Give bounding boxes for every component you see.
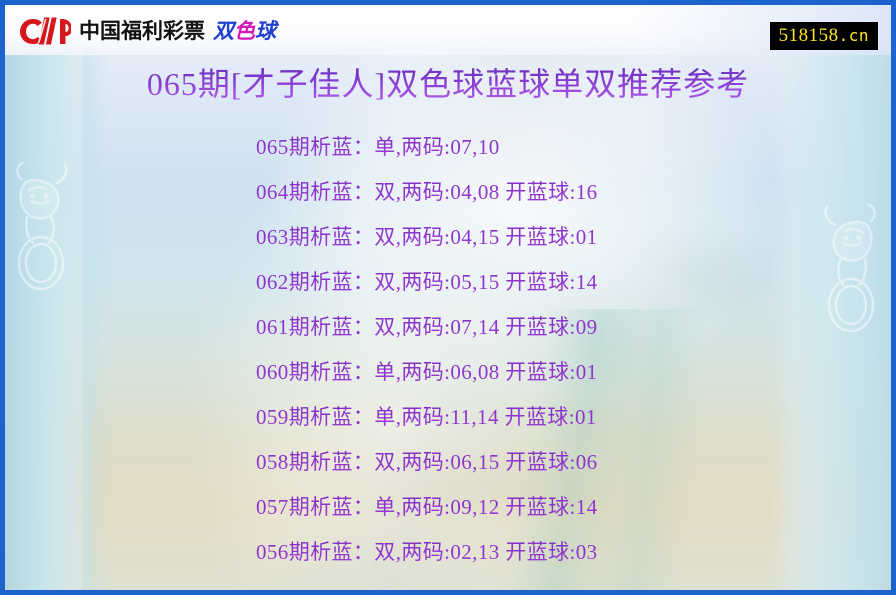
list-item: 059期析蓝：单,两码:11,14 开蓝球:01 [5, 395, 891, 440]
list-item: 058期析蓝：双,两码:06,15 开蓝球:06 [5, 440, 891, 485]
page-title: 065期[才子佳人]双色球蓝球单双推荐参考 [5, 63, 891, 105]
brand-product-char-3: 球 [255, 19, 276, 43]
list-item: 060期析蓝：单,两码:06,08 开蓝球:01 [5, 350, 891, 395]
watermark-tld: .cn [839, 26, 869, 45]
list-item: 065期析蓝：单,两码:07,10 [5, 125, 891, 170]
list-item: 064期析蓝：双,两码:04,08 开蓝球:16 [5, 170, 891, 215]
list-item: 062期析蓝：双,两码:05,15 开蓝球:14 [5, 260, 891, 305]
list-item: 056期析蓝：双,两码:02,13 开蓝球:03 [5, 530, 891, 575]
brand-product-char-1: 双 [213, 19, 234, 43]
brand-product-char-2: 色 [234, 19, 255, 43]
watermark-site: 518158 [779, 25, 839, 46]
brand-product-name: 双色球 [213, 21, 276, 42]
site-header: 中国福利彩票 双色球 518158.cn [5, 5, 891, 55]
china-welfare-lottery-logo-icon [19, 16, 71, 46]
list-item: 063期析蓝：双,两码:04,15 开蓝球:01 [5, 215, 891, 260]
lottery-forecast-page: 中国福利彩票 双色球 518158.cn 065期[才子佳人]双色球蓝球单双推荐… [0, 0, 896, 595]
list-item: 057期析蓝：单,两码:09,12 开蓝球:14 [5, 485, 891, 530]
brand-name: 中国福利彩票 [79, 21, 205, 42]
forecast-list: 065期析蓝：单,两码:07,10 064期析蓝：双,两码:04,08 开蓝球:… [5, 125, 891, 575]
brand-lockup[interactable]: 中国福利彩票 双色球 [19, 14, 276, 48]
site-watermark: 518158.cn [770, 22, 878, 50]
list-item: 061期析蓝：双,两码:07,14 开蓝球:09 [5, 305, 891, 350]
